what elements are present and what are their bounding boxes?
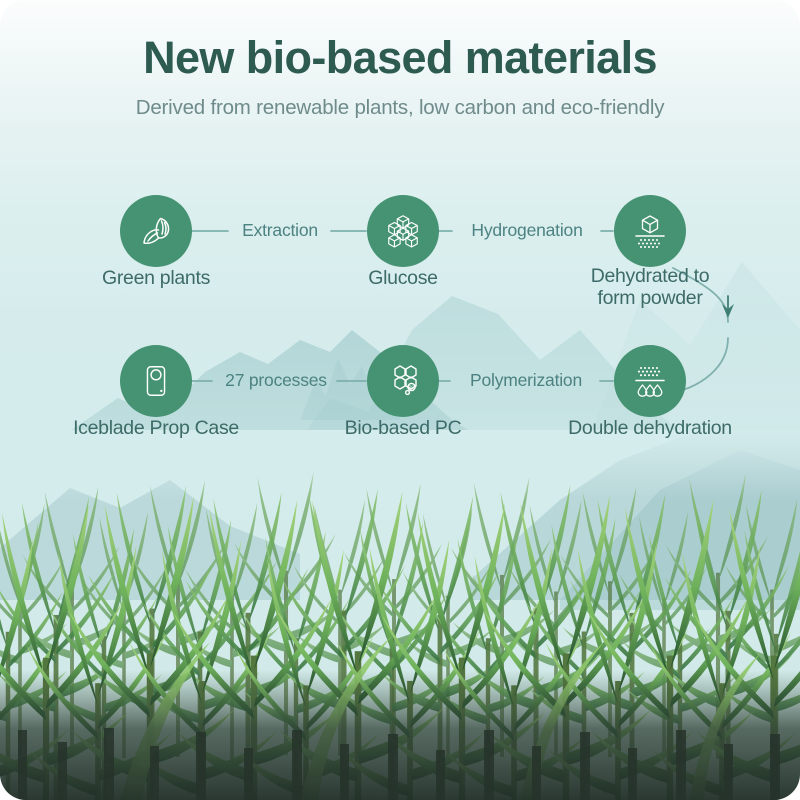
node-double-dehydration[interactable] (614, 345, 686, 417)
connector-label-polymerization: Polymerization (438, 370, 614, 391)
node-label-bio-based-pc: Bio-based PC (303, 418, 503, 440)
node-glucose[interactable] (367, 195, 439, 267)
node-dehydrated-powder[interactable] (614, 195, 686, 267)
cube-powder-icon (630, 211, 670, 251)
connector-label-hydrogenation: Hydrogenation (438, 220, 616, 241)
poster-root: New bio-based materials Derived from ren… (0, 0, 800, 800)
node-label-green-plants: Green plants (56, 268, 256, 290)
water-droplets-icon (630, 361, 670, 401)
connector-label-27-processes: 27 processes (198, 370, 354, 391)
node-label-double-dehydration: Double dehydration (540, 418, 760, 440)
svg-text:PC: PC (408, 385, 414, 390)
corn-cob-icon (136, 211, 176, 251)
node-label-glucose: Glucose (303, 268, 503, 290)
connector-label-extraction: Extraction (208, 220, 352, 241)
node-iceblade-prop-case[interactable] (120, 345, 192, 417)
node-bio-based-pc[interactable]: PC (367, 345, 439, 417)
sugar-cubes-icon (384, 212, 422, 250)
node-label-dehydrated-powder: Dehydrated to form powder (570, 266, 730, 310)
node-label-iceblade-prop-case: Iceblade Prop Case (36, 418, 276, 440)
node-green-plants[interactable] (120, 195, 192, 267)
phone-case-icon (137, 362, 175, 400)
pc-molecule-icon: PC (383, 361, 423, 401)
